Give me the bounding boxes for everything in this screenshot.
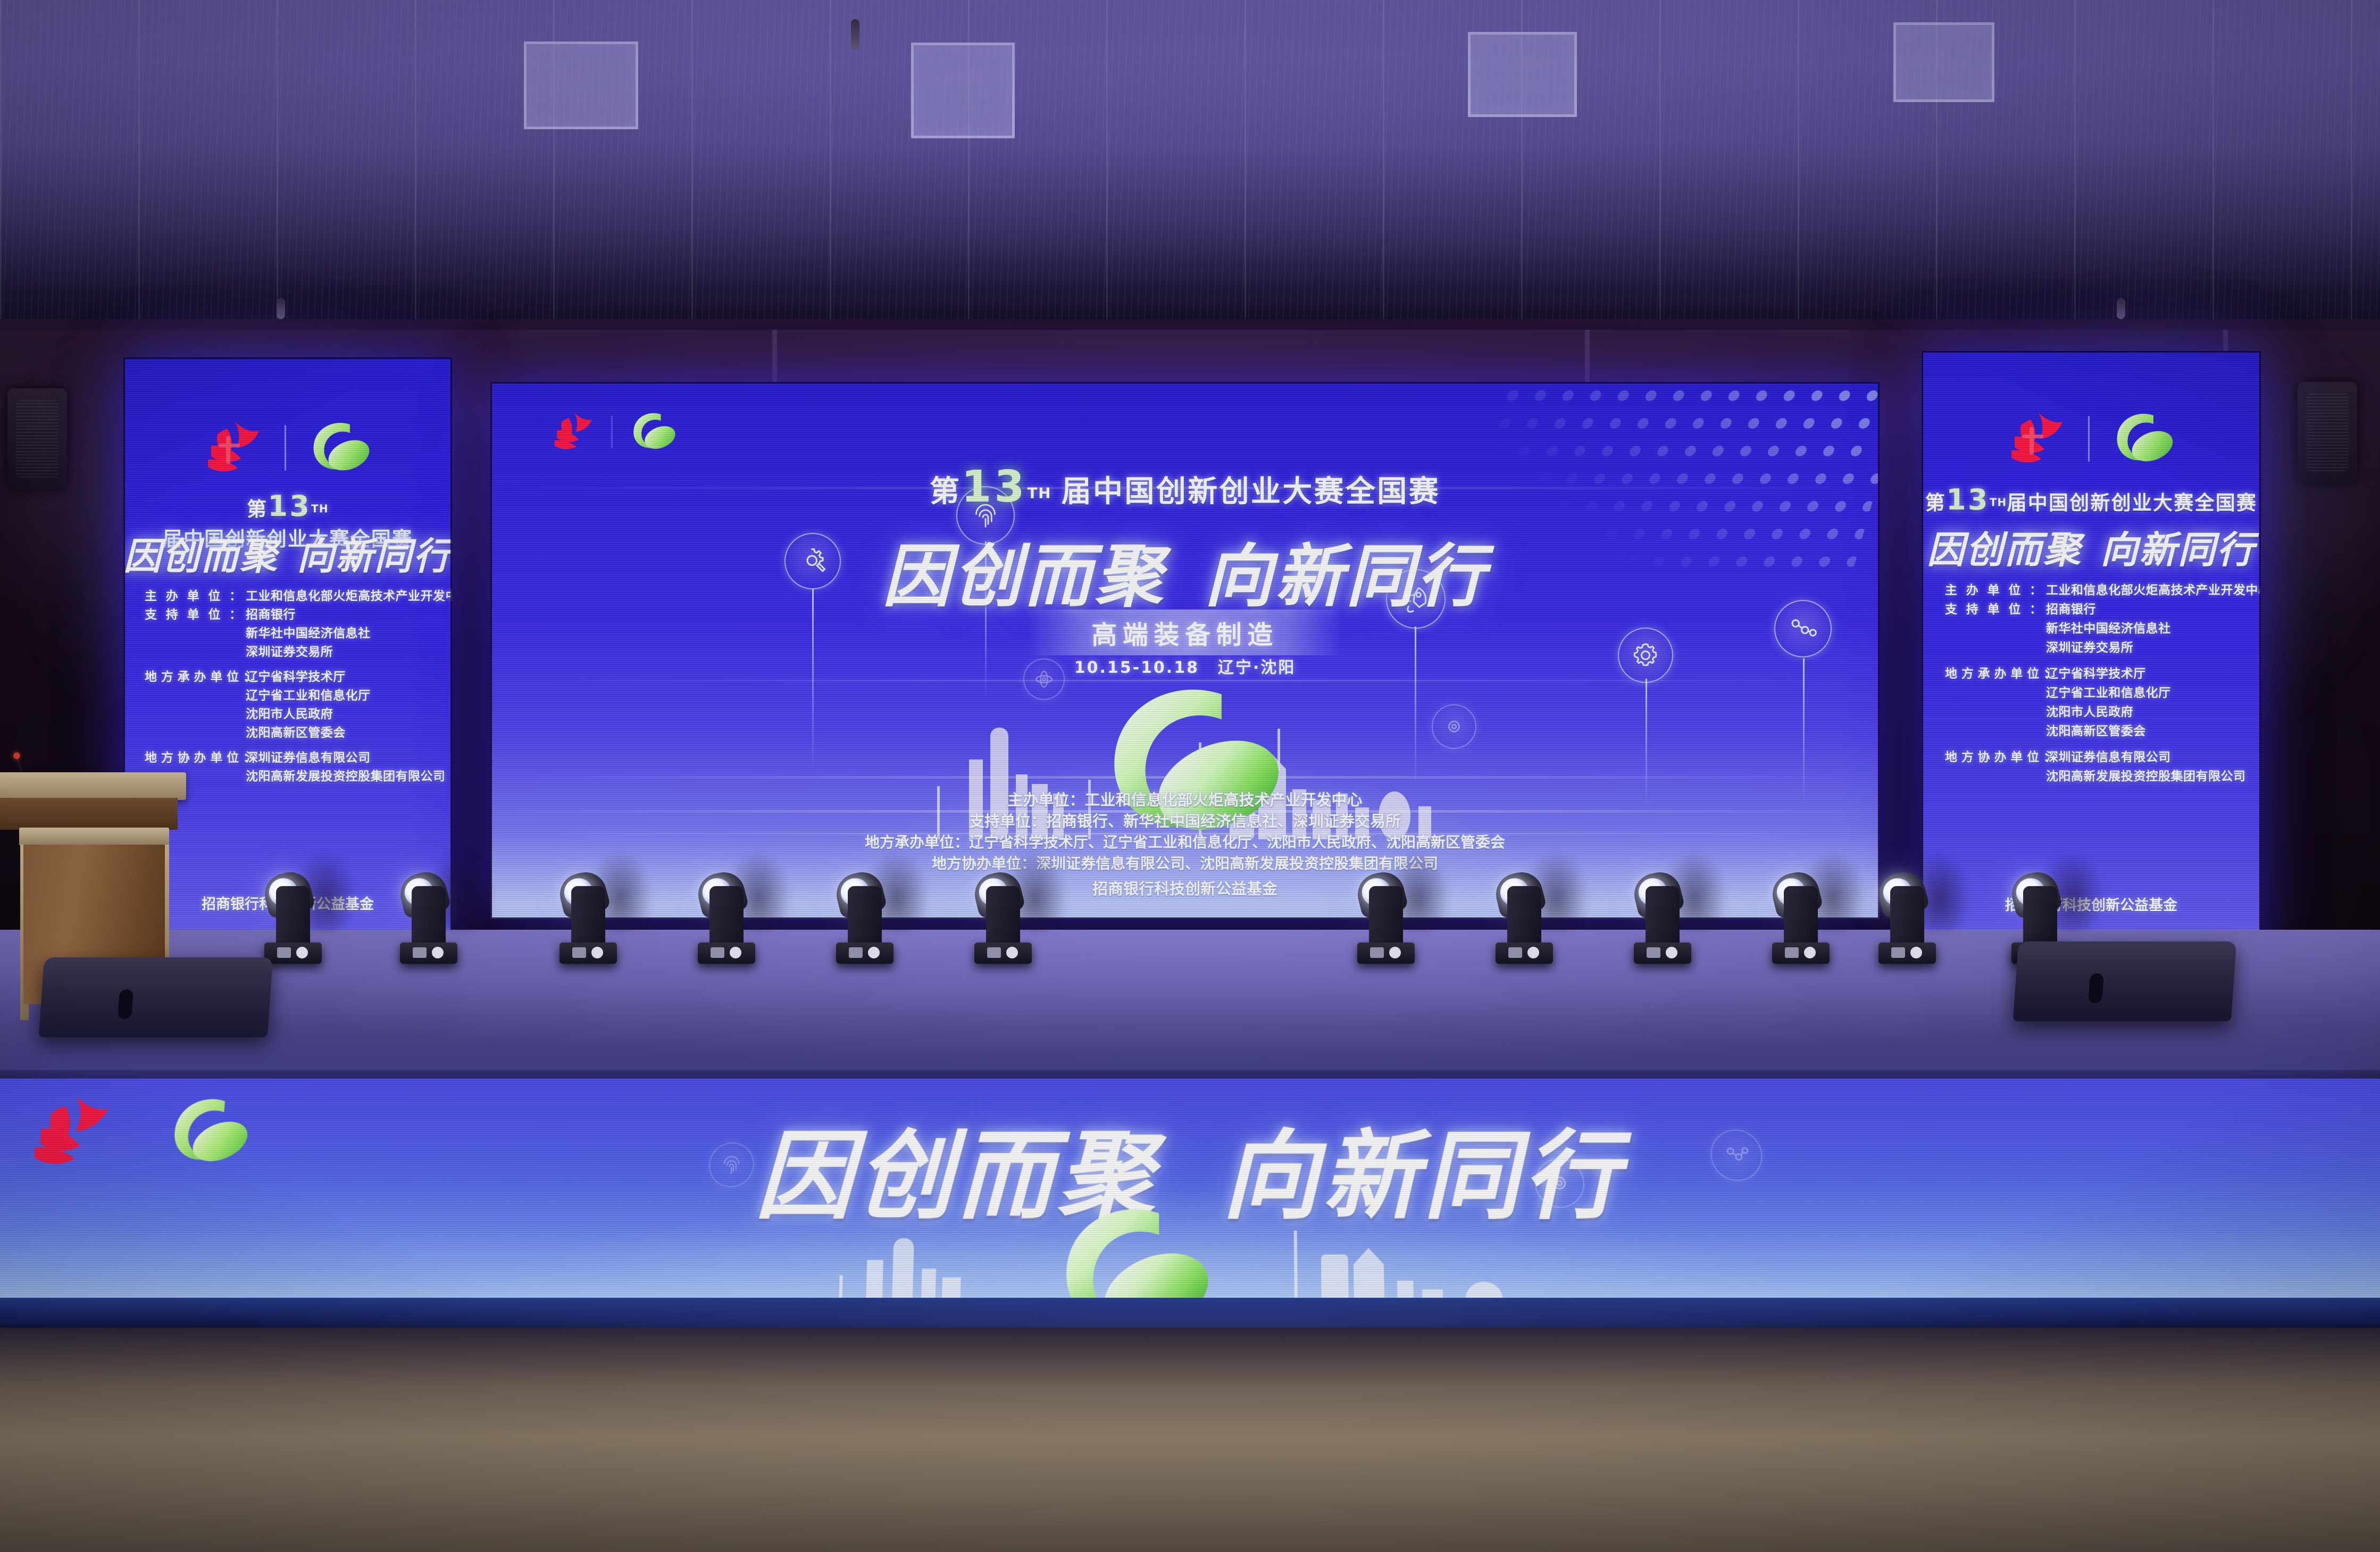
- moving-head-light: [1500, 870, 1549, 964]
- light-yoke: [848, 886, 882, 946]
- side-organizer-label: 地方承办单位：: [145, 668, 246, 687]
- side-organizer-row: 辽宁省工业和信息化厅: [1945, 683, 2248, 703]
- side-organizer-row: 主办单位：工业和信息化部火炬高技术产业开发中心: [145, 587, 442, 606]
- moving-head-light: [564, 870, 613, 964]
- organizer-spacer: [1945, 657, 2248, 664]
- side-organizer-row: 沈阳市人民政府: [145, 705, 442, 724]
- side-organizer-label: [145, 687, 246, 705]
- side-organizer-value: 沈阳高新发展投资控股集团有限公司: [2046, 767, 2245, 786]
- gear-small-icon: [1432, 704, 1476, 749]
- side-organizer-value: 工业和信息化部火炬高技术产业开发中心: [246, 587, 452, 606]
- moving-head-light: [1362, 870, 1410, 964]
- side-organizer-value: 沈阳高新发展投资控股集团有限公司: [246, 767, 445, 786]
- side-organizer-row: 新华社中国经济信息社: [1945, 619, 2248, 638]
- side-slogan-1: 因创而聚: [123, 535, 278, 578]
- side-organizer-row: 支持单位：招商银行: [145, 606, 442, 624]
- light-base: [559, 942, 617, 964]
- side-organizer-label: 地方协办单位：: [145, 749, 246, 767]
- organizer-spacer: [1945, 741, 2248, 748]
- side-organizer-value: 辽宁省科学技术厅: [2046, 664, 2146, 683]
- side-organizer-value: 辽宁省工业和信息化厅: [2046, 683, 2171, 703]
- side-organizer-label: [145, 643, 246, 662]
- category-badge: 高端装备制造: [1028, 610, 1342, 655]
- light-base: [400, 942, 457, 964]
- side-organizer-value: 深圳证券交易所: [246, 643, 333, 662]
- side-organizer-label: 主办单位：: [1945, 581, 2046, 600]
- china-innovation-torch-logo: [204, 420, 266, 475]
- edition-prefix: 第: [930, 474, 961, 509]
- side-organizer-label: [1945, 767, 2046, 786]
- light-yoke: [1784, 886, 1818, 946]
- event-location: 辽宁·沈阳: [1218, 658, 1296, 677]
- moving-head-light: [1638, 870, 1687, 964]
- light-base: [1357, 942, 1415, 964]
- side-organizer-value: 辽宁省科学技术厅: [246, 668, 346, 687]
- main-slogan-2: 向新同行: [1204, 537, 1487, 616]
- venue-floor: [0, 1328, 2380, 1552]
- side-organizer-label: [1945, 722, 2046, 741]
- apron-slogan-1: 因创而聚: [754, 1121, 1158, 1233]
- side-organizer-label: [1945, 703, 2046, 722]
- side-edition-number: 13: [268, 489, 311, 523]
- title-rest: 届中国创新创业大赛全国赛: [1062, 474, 1440, 509]
- light-yoke: [709, 886, 744, 946]
- side-organizer-label: [1945, 638, 2046, 657]
- side-organizer-value: 工业和信息化部火炬高技术产业开发中心: [2046, 581, 2261, 600]
- side-organizer-row: 沈阳高新发展投资控股集团有限公司: [1945, 767, 2248, 786]
- light-base: [264, 942, 322, 964]
- side-slogan-2: 向新同行: [297, 535, 452, 578]
- side-organizer-value: 新华社中国经济信息社: [246, 624, 371, 643]
- light-yoke: [986, 886, 1020, 946]
- side-organizer-row: 新华社中国经济信息社: [145, 624, 442, 643]
- main-organizer-line: 地方承办单位：辽宁省科学技术厅、辽宁省工业和信息化厅、沈阳市人民政府、沈阳高新区…: [490, 832, 1880, 853]
- organizer-spacer: [145, 662, 442, 668]
- side-organizer-label: [1945, 683, 2046, 703]
- tech-icon-stem: [1803, 658, 1805, 802]
- side-organizer-row: 地方协办单位：深圳证券信息有限公司: [1945, 748, 2248, 767]
- side-organizer-value: 辽宁省工业和信息化厅: [246, 687, 371, 705]
- side-organizer-label: 地方承办单位：: [1945, 664, 2046, 683]
- side-edition-ordinal: TH: [311, 503, 329, 515]
- left-led-panel: 第13TH届中国创新创业大赛全国赛 因创而聚 向新同行 主办单位：工业和信息化部…: [123, 357, 452, 948]
- side-organizer-label: 地方协办单位：: [1945, 748, 2046, 767]
- light-base: [1634, 942, 1691, 964]
- hanging-speaker: [7, 388, 67, 489]
- china-innovation-torch-logo: [552, 411, 597, 453]
- main-organizer-line: 主办单位：工业和信息化部火炬高技术产业开发中心: [490, 789, 1880, 811]
- logo-divider: [285, 425, 286, 471]
- side-organizer-row: 主办单位：工业和信息化部火炬高技术产业开发中心: [1945, 581, 2248, 600]
- green-c-emblem-logo: [627, 410, 678, 454]
- moving-head-light: [702, 870, 751, 964]
- green-c-emblem-logo: [304, 418, 372, 478]
- light-base: [1772, 942, 1830, 964]
- light-base: [698, 942, 755, 964]
- side-edition-number: 13: [1946, 483, 1990, 516]
- main-fund-line: 招商银行科技创新公益基金: [1092, 880, 1277, 898]
- light-base: [1878, 942, 1936, 964]
- side-organizer-value: 沈阳高新区管委会: [246, 724, 346, 742]
- side-organizer-value: 沈阳高新区管委会: [2046, 722, 2146, 741]
- side-slogan-1: 因创而聚: [1927, 528, 2082, 572]
- side-organizer-value: 深圳证券信息有限公司: [2046, 748, 2171, 767]
- ceiling-sprinkler-icon: [851, 19, 859, 50]
- stage-monitor-speaker: [2013, 941, 2236, 1021]
- side-organizer-value: 招商银行: [2046, 600, 2096, 619]
- ceiling-light-panel: [911, 43, 1015, 138]
- side-organizer-row: 沈阳高新发展投资控股集团有限公司: [145, 767, 442, 786]
- side-organizer-row: 支持单位：招商银行: [1945, 600, 2248, 619]
- logo-divider: [2088, 416, 2090, 462]
- ceiling-light-panel: [1468, 32, 1577, 117]
- light-yoke: [571, 886, 605, 946]
- edition-ordinal: TH: [1027, 485, 1051, 502]
- light-yoke: [1646, 886, 1680, 946]
- hanging-speaker: [2298, 382, 2357, 483]
- light-base: [836, 942, 893, 964]
- light-yoke: [2023, 886, 2057, 946]
- main-led-screen: 第13TH 届中国创新创业大赛全国赛 因创而聚 向新同行 高端装备制造 10.1…: [490, 382, 1880, 919]
- stage-apron-led: 因创而聚 向新同行: [0, 1079, 2380, 1311]
- green-c-emblem-logo: [2108, 409, 2176, 469]
- side-organizer-row: 地方协办单位：深圳证券信息有限公司: [145, 749, 442, 767]
- side-organizer-row: 沈阳高新区管委会: [145, 724, 442, 742]
- side-title-rest: 届中国创新创业大赛全国赛: [2007, 491, 2258, 514]
- side-organizer-value: 深圳证券信息有限公司: [246, 749, 371, 767]
- side-edition-prefix: 第: [247, 498, 268, 521]
- side-organizer-row: 辽宁省工业和信息化厅: [145, 687, 442, 705]
- tech-icon-stem: [1646, 679, 1647, 806]
- stage-monitor-speaker: [39, 957, 273, 1037]
- light-base: [1496, 942, 1553, 964]
- side-organizer-label: [1945, 619, 2046, 638]
- side-organizer-value: 沈阳市人民政府: [2046, 703, 2133, 722]
- side-organizer-value: 新华社中国经济信息社: [2046, 619, 2171, 638]
- side-organizer-row: 沈阳市人民政府: [1945, 703, 2248, 722]
- logo-divider: [611, 415, 613, 448]
- side-slogan-2: 向新同行: [2100, 528, 2255, 572]
- side-organizer-row: 深圳证券交易所: [145, 643, 442, 662]
- side-organizer-row: 深圳证券交易所: [1945, 638, 2248, 657]
- side-organizer-label: [145, 724, 246, 742]
- side-organizer-row: 地方承办单位：辽宁省科学技术厅: [1945, 664, 2248, 683]
- side-organizer-label: 支持单位：: [1945, 600, 2046, 619]
- side-organizer-row: 地方承办单位：辽宁省科学技术厅: [145, 668, 442, 687]
- moving-head-light: [840, 870, 889, 964]
- ceiling-light-panel: [524, 41, 638, 129]
- side-edition-prefix: 第: [1925, 491, 1946, 514]
- main-organizer-line: 支持单位：招商银行、新华社中国经济信息社、深圳证券交易所: [490, 811, 1880, 832]
- ceiling: [0, 0, 2380, 340]
- moving-head-light: [1776, 870, 1825, 964]
- light-yoke: [276, 886, 310, 946]
- side-organizer-value: 沈阳市人民政府: [246, 705, 333, 724]
- moving-head-light: [404, 870, 453, 964]
- organizer-spacer: [145, 742, 442, 749]
- light-yoke: [1369, 886, 1403, 946]
- light-yoke: [1890, 886, 1924, 946]
- side-organizer-label: [145, 624, 246, 643]
- ceiling-light-panel: [1893, 22, 1994, 102]
- moving-head-light: [1883, 870, 1932, 964]
- light-base: [974, 942, 1032, 964]
- moving-head-light: [979, 870, 1028, 964]
- light-yoke: [1507, 886, 1541, 946]
- light-yoke: [412, 886, 446, 946]
- side-organizer-label: 主办单位：: [145, 587, 246, 606]
- main-slogan-1: 因创而聚: [882, 537, 1165, 616]
- moving-head-light: [269, 870, 318, 964]
- side-organizer-label: [145, 705, 246, 724]
- china-innovation-torch-logo: [2007, 411, 2070, 466]
- stage-scene: 第13TH届中国创新创业大赛全国赛 因创而聚 向新同行 主办单位：工业和信息化部…: [0, 0, 2380, 1552]
- side-organizer-value: 招商银行: [246, 606, 296, 624]
- side-organizer-value: 深圳证券交易所: [2046, 638, 2133, 657]
- event-date-range: 10.15-10.18: [1074, 658, 1199, 677]
- edition-number: 13: [961, 462, 1027, 512]
- side-edition-ordinal: TH: [1990, 496, 2007, 509]
- side-organizer-label: 支持单位：: [145, 606, 246, 624]
- side-organizer-row: 沈阳高新区管委会: [1945, 722, 2248, 741]
